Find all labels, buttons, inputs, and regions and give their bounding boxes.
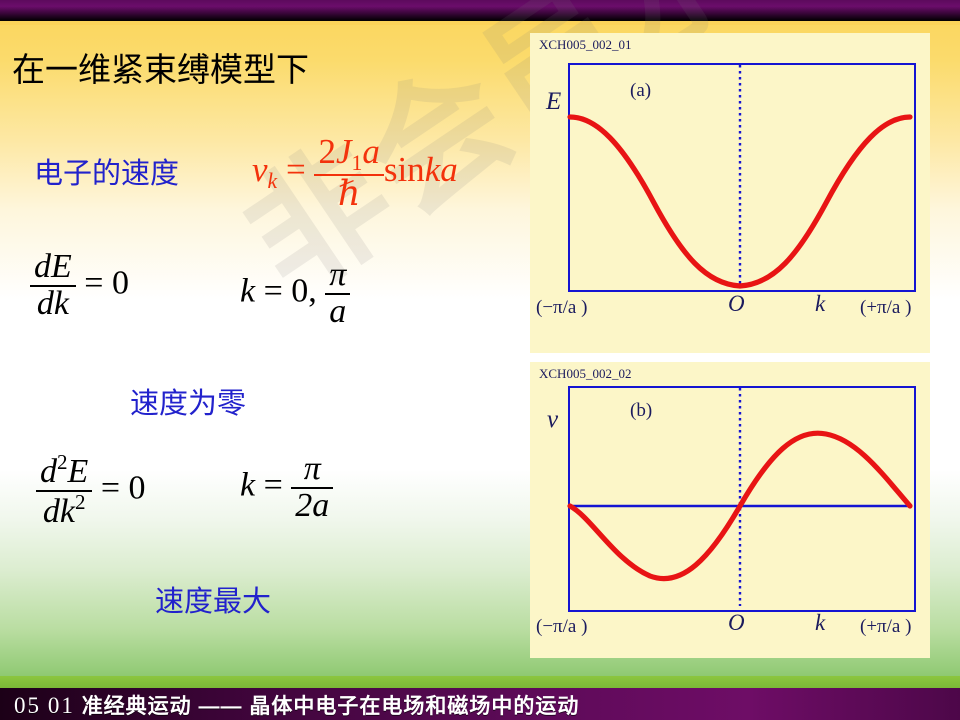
- first-derivative-equation: dE dk = 0: [30, 250, 129, 321]
- top-yellow-band: [0, 21, 960, 25]
- velocity-lhs-sub: k: [268, 169, 278, 193]
- second-solution-fraction: π 2a: [291, 452, 333, 523]
- slide-canvas: 非会员水印 在一维紧束缚模型下 电子的速度 vk = 2J1a ℏ sinka …: [0, 0, 960, 720]
- velocity-arg-k: k: [425, 150, 441, 189]
- figure-b-right-tick: (+π/a ): [860, 616, 911, 638]
- fd-den-k: k: [54, 285, 69, 322]
- second-solution-equation: k = π 2a: [240, 452, 333, 523]
- velocity-label: 电子的速度: [34, 150, 179, 192]
- sd-num-d: d: [40, 453, 57, 490]
- velocity-arg-a: a: [440, 150, 458, 189]
- first-solution-k: k: [240, 272, 255, 309]
- figure-b-x-axis-label: k: [815, 610, 825, 636]
- footer-title: 准经典运动 —— 晶体中电子在电场和磁场中的运动: [82, 695, 580, 718]
- sd-den-exp: 2: [75, 490, 86, 514]
- second-derivative-rhs: = 0: [101, 470, 146, 507]
- figure-electron-velocity: XCH005_002_02 (b) v (−π/a ) O k (+π/a ): [530, 362, 930, 658]
- fd-den-d: d: [37, 285, 54, 322]
- figure-a-x-axis-label: k: [815, 291, 825, 317]
- second-solution-den: 2a: [291, 487, 333, 524]
- velocity-num-a: a: [362, 132, 380, 171]
- first-solution-fraction: π a: [325, 258, 350, 329]
- figure-energy-band: XCH005_002_01 (a) E (−π/a ) O k (+π/a ): [530, 33, 930, 353]
- fd-num-d: d: [34, 248, 51, 285]
- figure-a-origin-label: O: [728, 291, 745, 317]
- footer-section: 01: [48, 693, 75, 718]
- sd-num-E: E: [68, 453, 89, 490]
- velocity-denominator: ℏ: [314, 174, 383, 212]
- first-derivative-numerator: dE: [30, 250, 76, 285]
- second-derivative-fraction: d2E dk2: [36, 452, 92, 529]
- second-solution-num: π: [291, 452, 333, 487]
- velocity-lhs: v: [252, 150, 268, 189]
- page-title: 在一维紧束缚模型下: [12, 43, 309, 91]
- figure-a-left-tick: (−π/a ): [536, 297, 587, 319]
- fd-num-E: E: [51, 248, 72, 285]
- velocity-num-coeff: 2: [318, 132, 336, 171]
- second-derivative-denominator: dk2: [36, 490, 92, 530]
- second-solution-k: k: [240, 466, 255, 503]
- velocity-fraction: 2J1a ℏ: [314, 134, 383, 212]
- figure-b-left-tick: (−π/a ): [536, 616, 587, 638]
- sd-num-exp: 2: [57, 450, 68, 474]
- footer-text: 05 01 准经典运动 —— 晶体中电子在电场和磁场中的运动: [14, 690, 579, 720]
- zero-velocity-label: 速度为零: [130, 380, 246, 422]
- velocity-equation: vk = 2J1a ℏ sinka: [252, 134, 458, 212]
- bottom-green-bar: [0, 676, 960, 688]
- footer-chapter: 05: [14, 693, 41, 718]
- first-derivative-fraction: dE dk: [30, 250, 76, 321]
- second-solution-equals: =: [264, 466, 283, 503]
- sd-den-d: d: [43, 493, 60, 530]
- first-derivative-rhs: = 0: [84, 264, 129, 301]
- second-derivative-numerator: d2E: [36, 452, 92, 490]
- first-solution-equals: = 0,: [264, 272, 317, 309]
- top-decorative-bar: [0, 0, 960, 21]
- first-solution-equation: k = 0, π a: [240, 258, 350, 329]
- velocity-num-J: J: [336, 132, 352, 171]
- velocity-trig: sin: [384, 150, 425, 189]
- velocity-numerator: 2J1a: [314, 134, 383, 174]
- sd-den-k: k: [60, 493, 75, 530]
- velocity-num-J-sub: 1: [351, 151, 362, 175]
- max-velocity-label: 速度最大: [155, 578, 271, 620]
- first-solution-den: a: [325, 293, 350, 330]
- first-derivative-denominator: dk: [30, 285, 76, 322]
- figure-b-origin-label: O: [728, 610, 745, 636]
- first-solution-num: π: [325, 258, 350, 293]
- figure-a-right-tick: (+π/a ): [860, 297, 911, 319]
- second-derivative-equation: d2E dk2 = 0: [36, 452, 146, 529]
- velocity-equals: =: [286, 150, 306, 189]
- figure-a-energy-curve: [570, 117, 910, 286]
